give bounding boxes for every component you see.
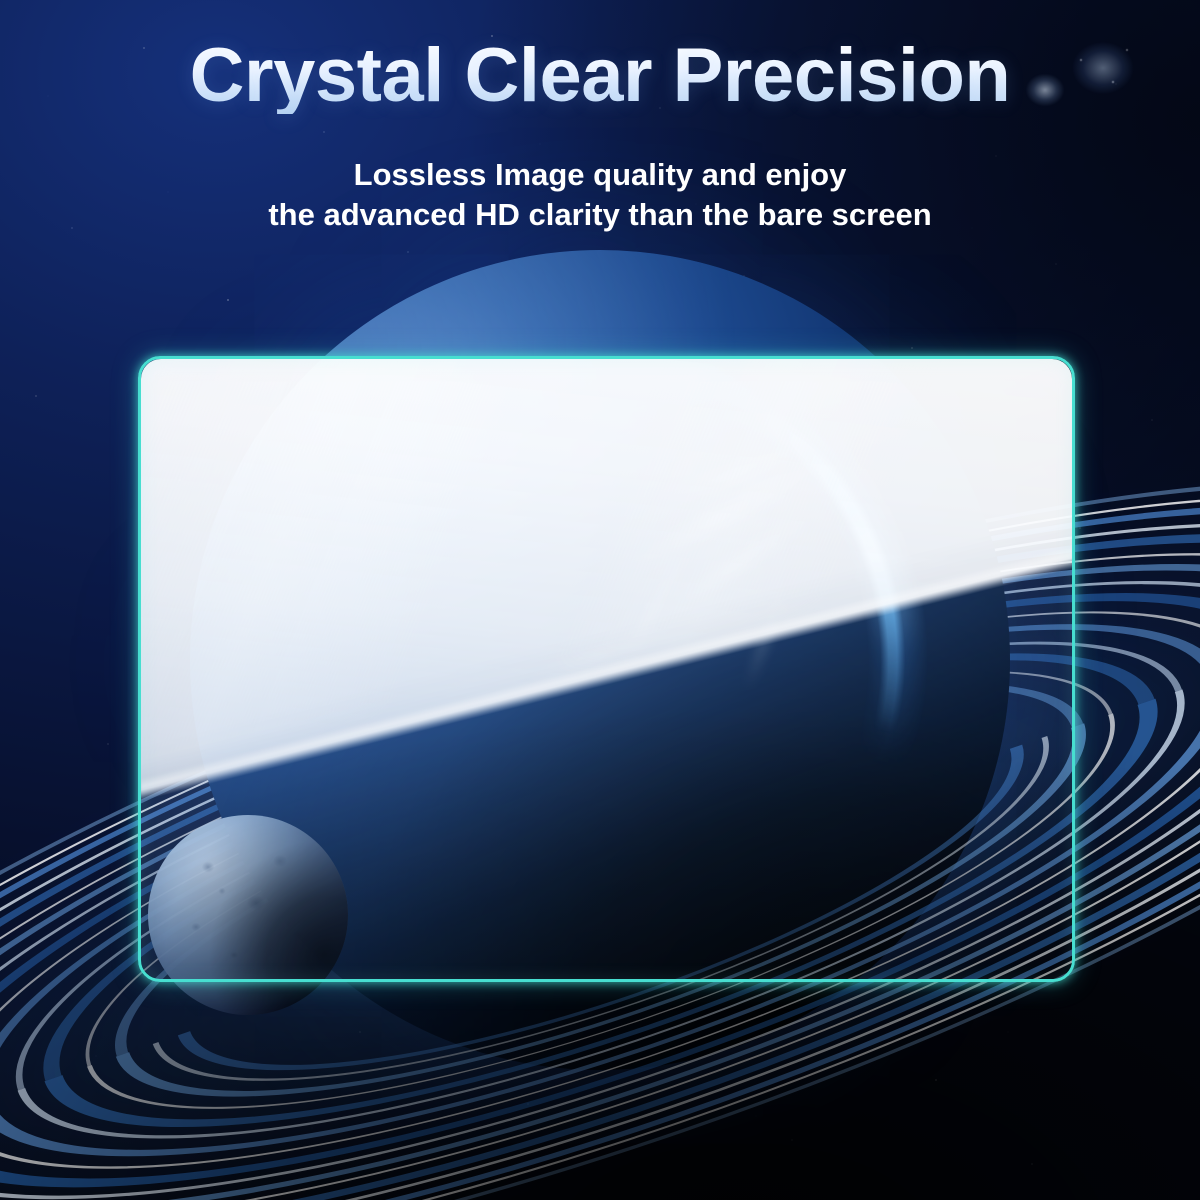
page-title: Crystal Clear Precision: [0, 38, 1200, 114]
subtitle-line-1: Lossless Image quality and enjoy: [0, 155, 1200, 195]
page-subtitle: Lossless Image quality and enjoy the adv…: [0, 155, 1200, 236]
marketing-banner: Crystal Clear Precision Lossless Image q…: [0, 0, 1200, 1200]
subtitle-line-2: the advanced HD clarity than the bare sc…: [0, 195, 1200, 235]
